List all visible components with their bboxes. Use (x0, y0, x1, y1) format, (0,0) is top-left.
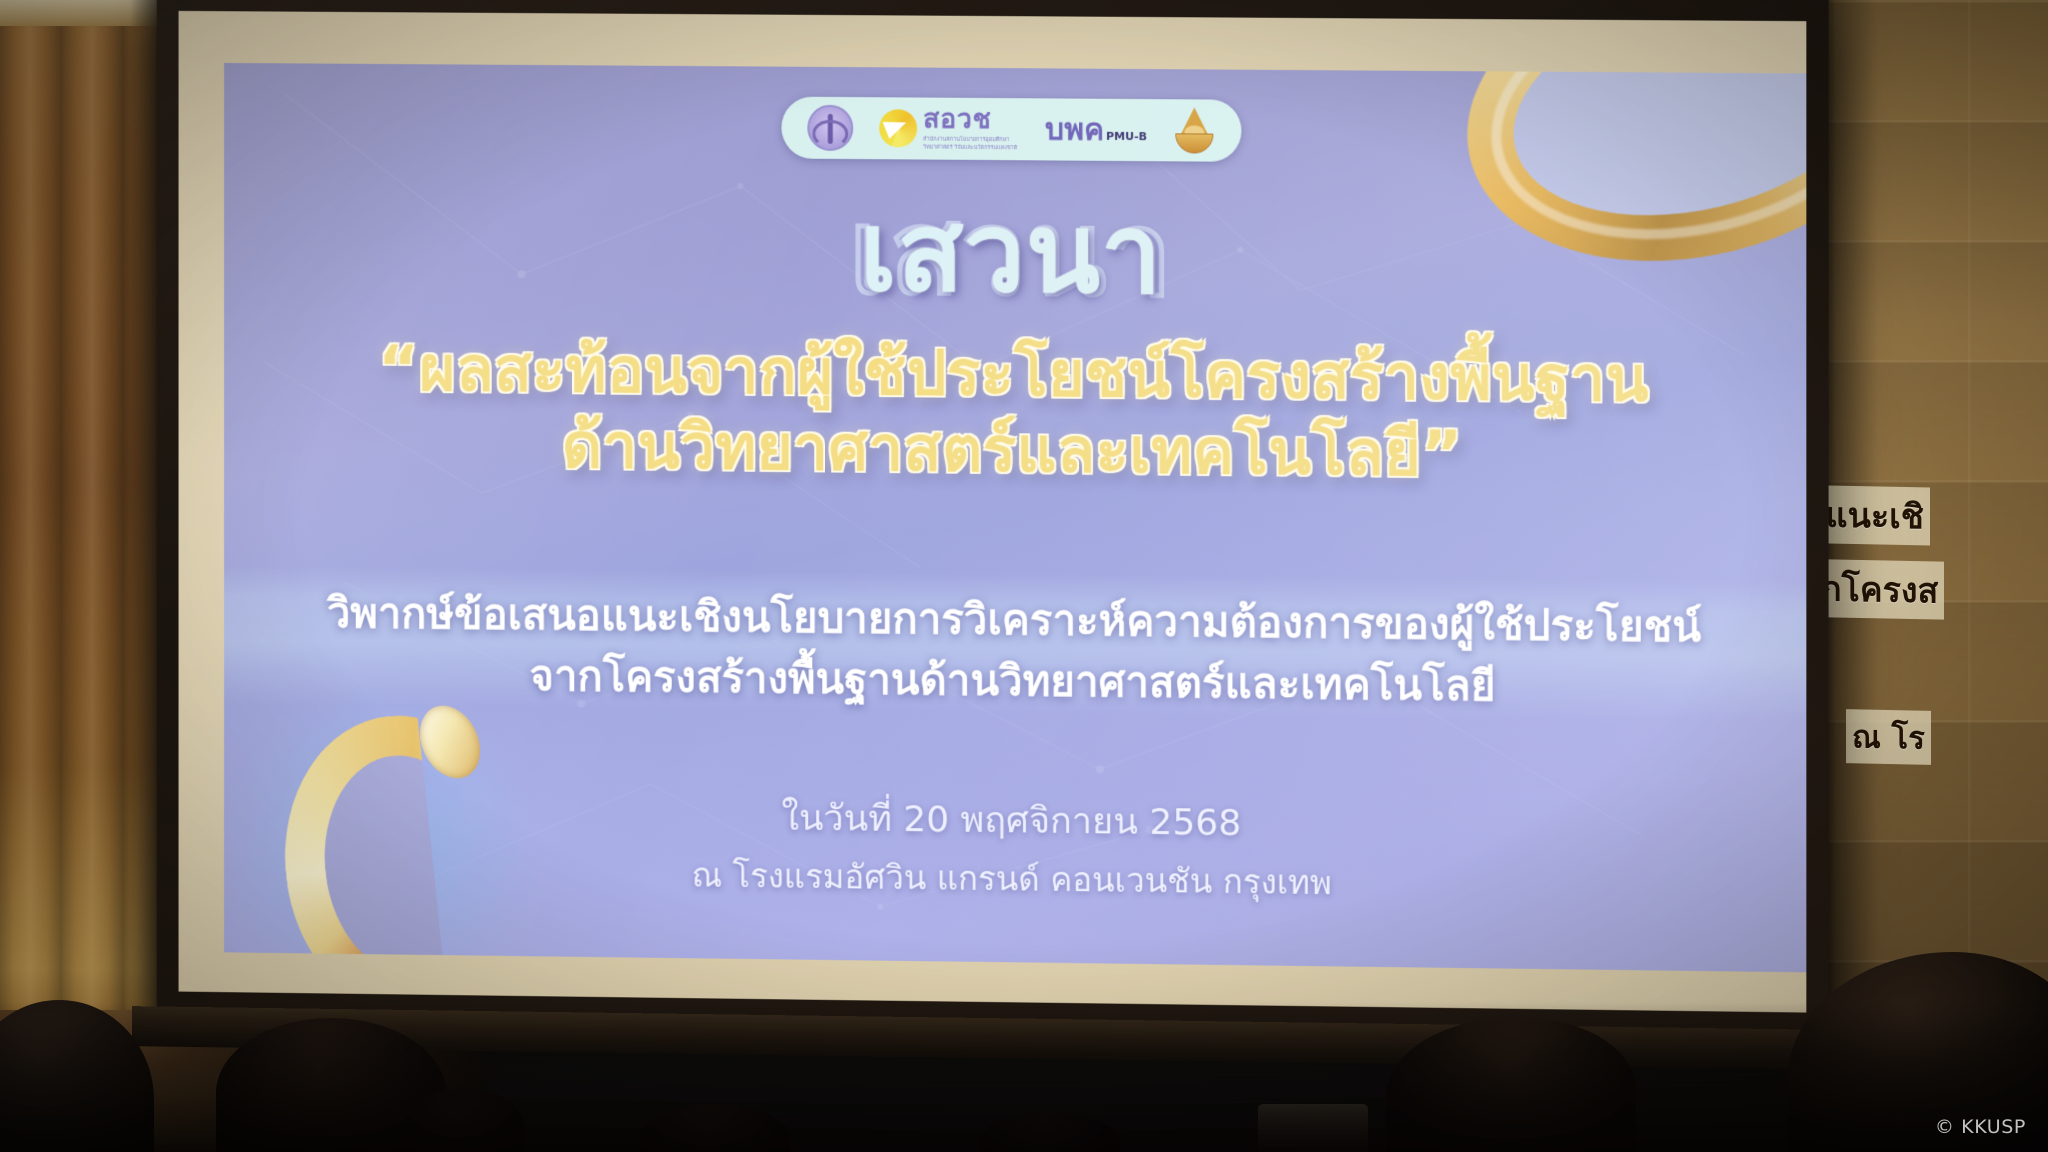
wall-spill-text-line-1: นอแนะเชิ (1816, 485, 1930, 546)
wall-spill-text-line-3: ณ โร (1846, 709, 1931, 765)
organization-logo-bar: สอวช สำนักงานสภานโยบายการอุดมศึกษา วิทยา… (781, 97, 1241, 162)
pmub-label-text: PMU-B (1106, 129, 1147, 142)
photo-watermark: © KKUSP (1935, 1116, 2026, 1138)
slide-quoted-title: “ผลสะท้อนจากผู้ใช้ประโยชน์โครงสร้างพื้นฐ… (283, 330, 1745, 494)
event-venue: ณ โรงแรมอัศวิน แกรนด์ คอนเวนชัน กรุงเทพ (224, 845, 1806, 914)
pmub-logo: บพค PMU-B (1045, 116, 1147, 144)
projection-screen-surface: สอวช สำนักงานสภานโยบายการอุดมศึกษา วิทยา… (179, 11, 1807, 1013)
slide-footer: ในวันที่ 20 พฤศจิกายน 2568 ณ โรงแรมอัศวิ… (224, 785, 1806, 913)
sovoch-arrow-icon (879, 109, 917, 147)
quoted-title-line-2: ด้านวิทยาศาสตร์และเทคโนโลยี” (283, 405, 1745, 494)
podium-object (1258, 1104, 1368, 1152)
pmub-thai-glyph: บพค (1045, 116, 1104, 143)
slide-headline: เสวนา (224, 194, 1806, 315)
projection-screen-frame: สอวช สำนักงานสภานโยบายการอุดมศึกษา วิทยา… (157, 0, 1829, 1035)
sovoch-logo-subtext: สำนักงานสภานโยบายการอุดมศึกษา วิทยาศาสตร… (923, 135, 1019, 152)
conference-room-photo: นอแนะเชิ จากโครงส ณ โร (0, 0, 2048, 1152)
sovoch-logo-text: สอวช (923, 105, 1019, 133)
wall-spill-text-line-2: จากโครงส (1816, 558, 1944, 619)
mhesi-emblem-logo (807, 105, 853, 151)
mhesi-emblem-icon (807, 105, 853, 151)
sovoch-logo: สอวช สำนักงานสภานโยบายการอุดมศึกษา วิทยา… (879, 105, 1019, 152)
royal-emblem-logo (1173, 107, 1215, 153)
slide-body-text: วิพากษ์ข้อเสนอแนะเชิงนโยบายการวิเคราะห์ค… (313, 583, 1715, 720)
projection-spill-on-wall: นอแนะเชิ จากโครงส ณ โร (1816, 440, 2048, 840)
quoted-title-line-1: “ผลสะท้อนจากผู้ใช้ประโยชน์โครงสร้างพื้นฐ… (283, 330, 1745, 418)
presentation-slide: สอวช สำนักงานสภานโยบายการอุดมศึกษา วิทยา… (224, 63, 1806, 972)
royal-emblem-icon (1173, 107, 1215, 153)
